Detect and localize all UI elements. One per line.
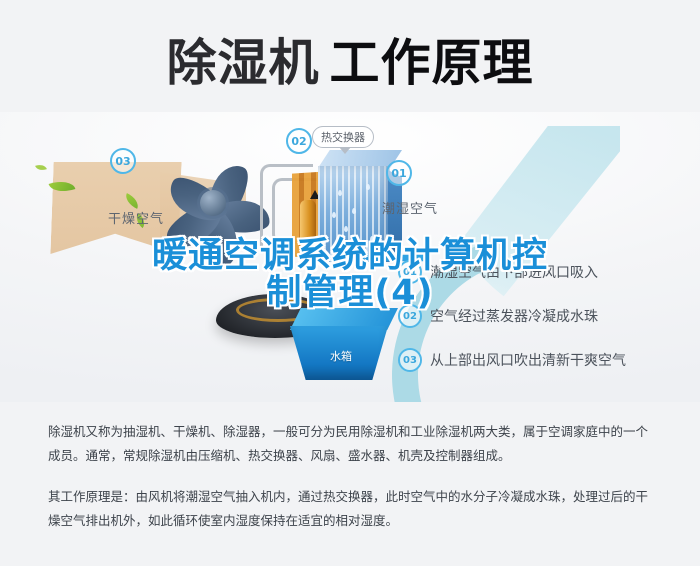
legend-label: 潮湿空气由下部进风口吸入 <box>430 262 598 282</box>
legend-item: 01 潮湿空气由下部进风口吸入 <box>398 260 698 284</box>
legend-number: 01 <box>398 260 422 284</box>
badge-02: 02 <box>286 128 312 154</box>
legend-item: 03 从上部出风口吹出清新干爽空气 <box>398 348 698 372</box>
dry-air-label: 干燥空气 <box>108 208 164 227</box>
humid-air-label: 潮湿空气 <box>382 198 438 217</box>
legend-number: 02 <box>398 304 422 328</box>
water-tank-label: 水箱 <box>330 348 352 364</box>
heat-exchanger-callout: 热交换器 <box>312 126 374 148</box>
body-paragraph-1: 除湿机又称为抽湿机、干燥机、除湿器，一般可分为民用除湿机和工业除湿机两大类，属于… <box>48 420 660 469</box>
body-copy: 除湿机又称为抽湿机、干燥机、除湿器，一般可分为民用除湿机和工业除湿机两大类，属于… <box>48 420 660 534</box>
infographic-page: 除湿机 工作原理 <box>0 0 700 566</box>
badge-01: 01 <box>386 160 412 186</box>
dehumidifier-diagram: 水箱 03 02 01 热交换器 干燥空气 潮湿空气 01 潮湿空气由下部进风口… <box>0 112 700 402</box>
leaf-icon <box>35 163 47 173</box>
title-part-product: 除湿机 <box>167 38 320 88</box>
title-part-principle: 工作原理 <box>330 38 534 88</box>
legend-item: 02 空气经过蒸发器冷凝成水珠 <box>398 304 698 328</box>
legend-number: 03 <box>398 348 422 372</box>
water-tank-icon: 水箱 <box>290 308 398 382</box>
legend-list: 01 潮湿空气由下部进风口吸入 02 空气经过蒸发器冷凝成水珠 03 从上部出风… <box>398 260 698 392</box>
badge-03: 03 <box>110 148 136 174</box>
body-paragraph-2: 其工作原理是：由风机将潮湿空气抽入机内，通过热交换器，此时空气中的水分子冷凝成水… <box>48 485 660 534</box>
legend-label: 空气经过蒸发器冷凝成水珠 <box>430 306 598 326</box>
page-title: 除湿机 工作原理 <box>0 26 700 100</box>
legend-label: 从上部出风口吹出清新干爽空气 <box>430 350 626 370</box>
